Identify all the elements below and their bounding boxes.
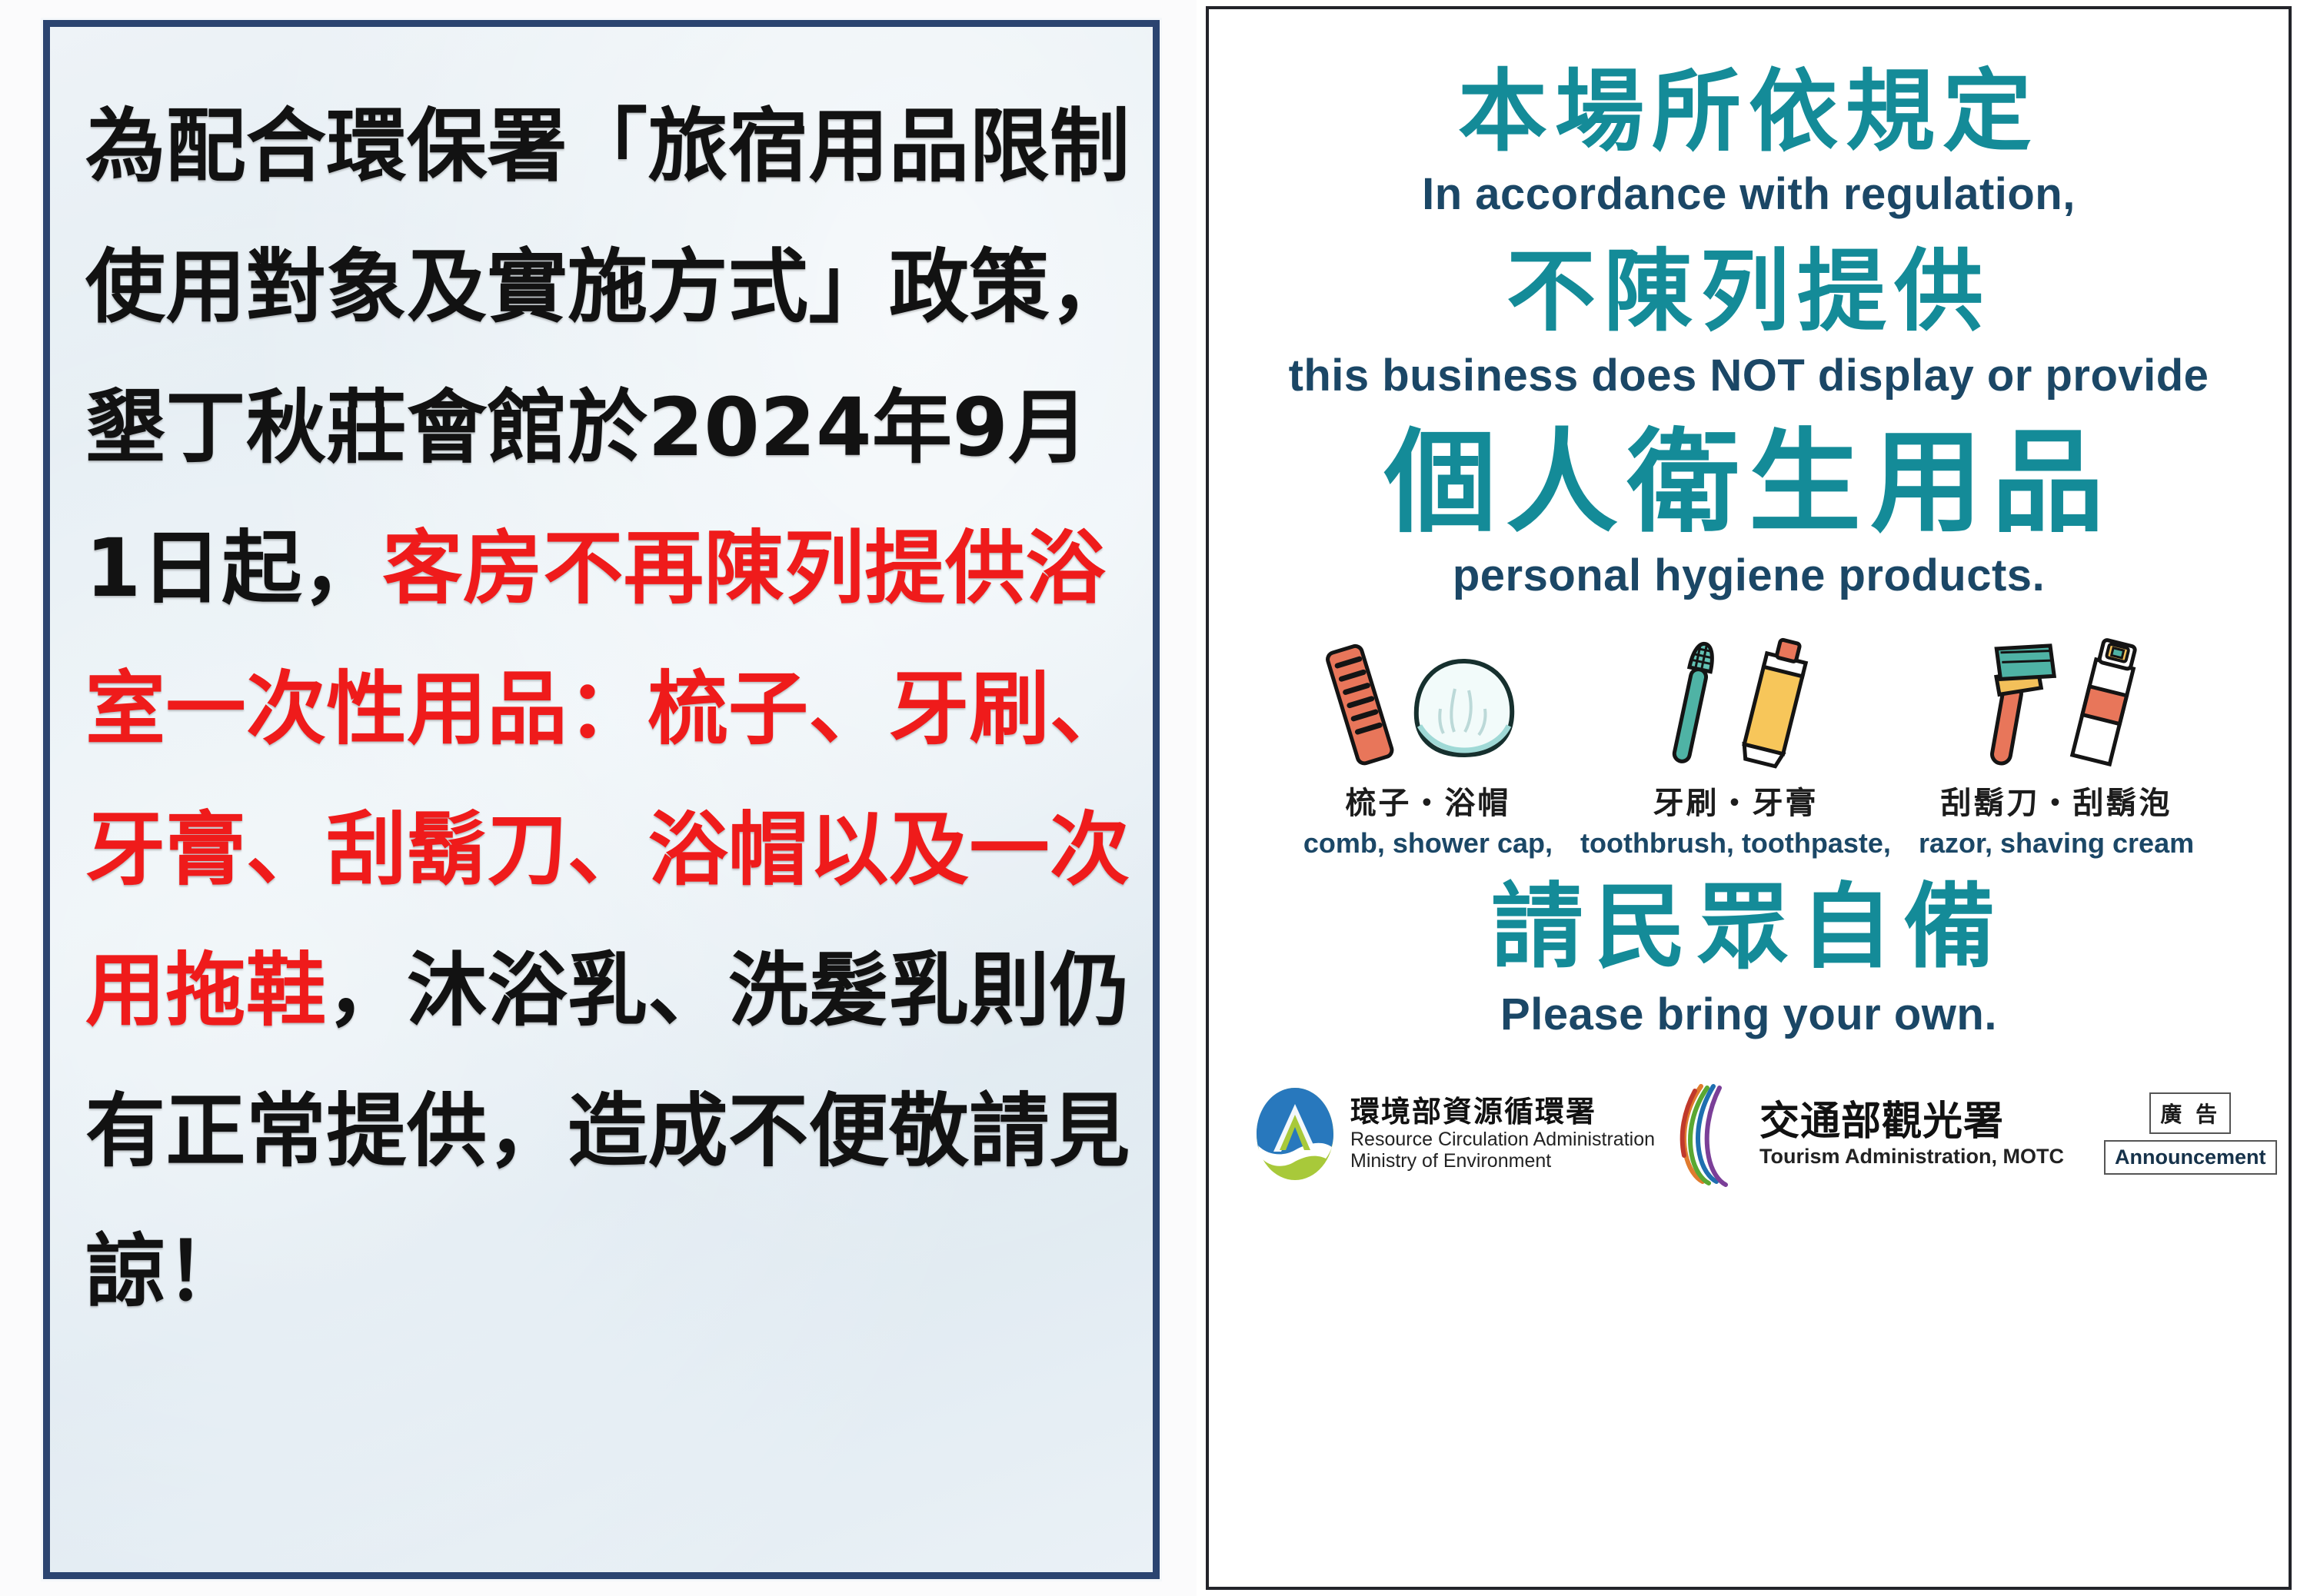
product-label-zh-toothbrush: 牙刷・牙膏 <box>1653 778 1818 823</box>
heading-en-not-display: this business does NOT display or provid… <box>1243 350 2255 401</box>
notice-text-black: 諒！ <box>85 1225 246 1318</box>
comb-icon <box>1326 644 1393 765</box>
notice-text-black: ，沐浴乳、洗髮乳則仍 <box>327 943 1130 1037</box>
razor-and-shaving-cream-svg <box>1941 635 2172 773</box>
left-notice-wrapper: 為配合環保署「旅宿用品限制 使用對象及實施方式」政策， 墾丁秋莊會館於2024年… <box>0 0 1197 1596</box>
closing-en-bring-your-own: Please bring your own. <box>1243 989 2255 1040</box>
badge-advertisement-en: Announcement <box>2104 1140 2277 1175</box>
rca-name-en-line1: Resource Circulation Administration <box>1350 1129 1655 1150</box>
notice-line: 墾丁秋莊會館於2024年9月 <box>85 357 1122 498</box>
logo-resource-circulation-administration: 環境部資源循環署 Resource Circulation Administra… <box>1250 1084 1655 1184</box>
notice-text-black: 墾丁秋莊會館於2024年9月 <box>85 381 1089 474</box>
heading-zh-hygiene-products: 個人衛生用品 <box>1243 418 2255 548</box>
shower-cap-icon <box>1416 661 1512 755</box>
notice-text-black: 為配合環保署「旅宿用品限制 <box>85 99 1130 193</box>
product-label-en-toothbrush: toothbrush, toothpaste, <box>1580 827 1891 860</box>
notice-text-highlight: 客房不再陳列提供浴 <box>382 521 1106 615</box>
razor-icon <box>1977 637 2059 770</box>
product-label-en-comb: comb, shower cap, <box>1303 827 1553 860</box>
heading-en-hygiene-products: personal hygiene products. <box>1243 550 2255 601</box>
rca-logo-text: 環境部資源循環署 Resource Circulation Administra… <box>1350 1096 1655 1172</box>
notice-line: 有正常提供，造成不便敬請見 <box>85 1061 1122 1202</box>
badge-advertisement-zh: 廣 告 <box>2149 1092 2231 1134</box>
heading-zh-not-display: 不陳列提供 <box>1243 240 2255 345</box>
toothpaste-icon <box>1741 637 1810 768</box>
notice-line: 用拖鞋，沐浴乳、洗髮乳則仍 <box>85 920 1122 1061</box>
heading-en-in-accordance: In accordance with regulation, <box>1243 168 2255 220</box>
product-label-zh-razor: 刮鬍刀・刮鬍泡 <box>1941 778 2172 823</box>
rca-name-zh: 環境部資源循環署 <box>1350 1096 1655 1129</box>
right-notice-wrapper: 本場所依規定 In accordance with regulation, 不陳… <box>1197 0 2307 1596</box>
notice-text-highlight: 牙膏、刮鬍刀、浴帽以及一次 <box>85 803 1130 896</box>
notice-line: 為配合環保署「旅宿用品限制 <box>85 76 1122 217</box>
rca-logo-icon <box>1250 1084 1340 1184</box>
toothbrush-icon <box>1669 642 1716 763</box>
tourism-name-zh: 交通部觀光署 <box>1759 1099 2064 1144</box>
notice-text-black: 使用對象及實施方式」政策， <box>85 240 1130 334</box>
tourism-name-en: Tourism Administration, MOTC <box>1759 1145 2064 1168</box>
product-icon-row: 梳子・浴帽 comb, shower cap, <box>1243 627 2255 860</box>
right-notice-panel: 本場所依規定 In accordance with regulation, 不陳… <box>1206 6 2292 1590</box>
shaving-cream-icon <box>2072 639 2139 764</box>
logo-tourism-administration: 交通部觀光署 Tourism Administration, MOTC <box>1675 1080 2064 1188</box>
tourism-logo-text: 交通部觀光署 Tourism Administration, MOTC <box>1759 1099 2064 1167</box>
tourism-logo-icon <box>1675 1080 1749 1188</box>
product-group-toothbrush-toothpaste: 牙刷・牙膏 toothbrush, toothpaste, <box>1580 627 1891 860</box>
notice-line: 使用對象及實施方式」政策， <box>85 217 1122 357</box>
notice-text-highlight: 用拖鞋 <box>85 943 327 1037</box>
notice-text-black: 1日起， <box>85 521 382 615</box>
product-group-razor-shavingcream: 刮鬍刀・刮鬍泡 razor, shaving cream <box>1919 627 2194 860</box>
notice-text-highlight: 室一次性用品：梳子、牙刷、 <box>85 662 1130 756</box>
icon-art-razor-shavingcream <box>1941 627 2172 773</box>
product-label-en-razor: razor, shaving cream <box>1919 827 2194 860</box>
left-notice-body: 為配合環保署「旅宿用品限制 使用對象及實施方式」政策， 墾丁秋莊會館於2024年… <box>50 27 1153 1342</box>
icon-art-comb-showercap <box>1313 627 1543 773</box>
advertisement-badges: 廣 告 Announcement <box>2104 1092 2277 1175</box>
left-notice-panel: 為配合環保署「旅宿用品限制 使用對象及實施方式」政策， 墾丁秋莊會館於2024年… <box>43 20 1160 1579</box>
notice-line: 1日起，客房不再陳列提供浴 <box>85 498 1122 639</box>
product-group-comb-showercap: 梳子・浴帽 comb, shower cap, <box>1303 627 1553 860</box>
toothbrush-and-toothpaste-svg <box>1620 635 1851 773</box>
heading-zh-in-accordance: 本場所依規定 <box>1243 60 2255 165</box>
notice-text-black: 有正常提供，造成不便敬請見 <box>85 1084 1130 1178</box>
product-label-zh-comb: 梳子・浴帽 <box>1345 778 1510 823</box>
agency-logo-footer: 環境部資源循環署 Resource Circulation Administra… <box>1243 1080 2255 1188</box>
rca-name-en-line2: Ministry of Environment <box>1350 1150 1655 1172</box>
icon-art-toothbrush-toothpaste <box>1620 627 1851 773</box>
notice-line: 牙膏、刮鬍刀、浴帽以及一次 <box>85 780 1122 920</box>
dual-notice-poster: 為配合環保署「旅宿用品限制 使用對象及實施方式」政策， 墾丁秋莊會館於2024年… <box>0 0 2307 1596</box>
comb-and-shower-cap-svg <box>1313 635 1543 773</box>
closing-zh-bring-your-own: 請民眾自備 <box>1243 873 2255 983</box>
notice-line: 室一次性用品：梳子、牙刷、 <box>85 639 1122 780</box>
notice-line: 諒！ <box>85 1202 1122 1342</box>
